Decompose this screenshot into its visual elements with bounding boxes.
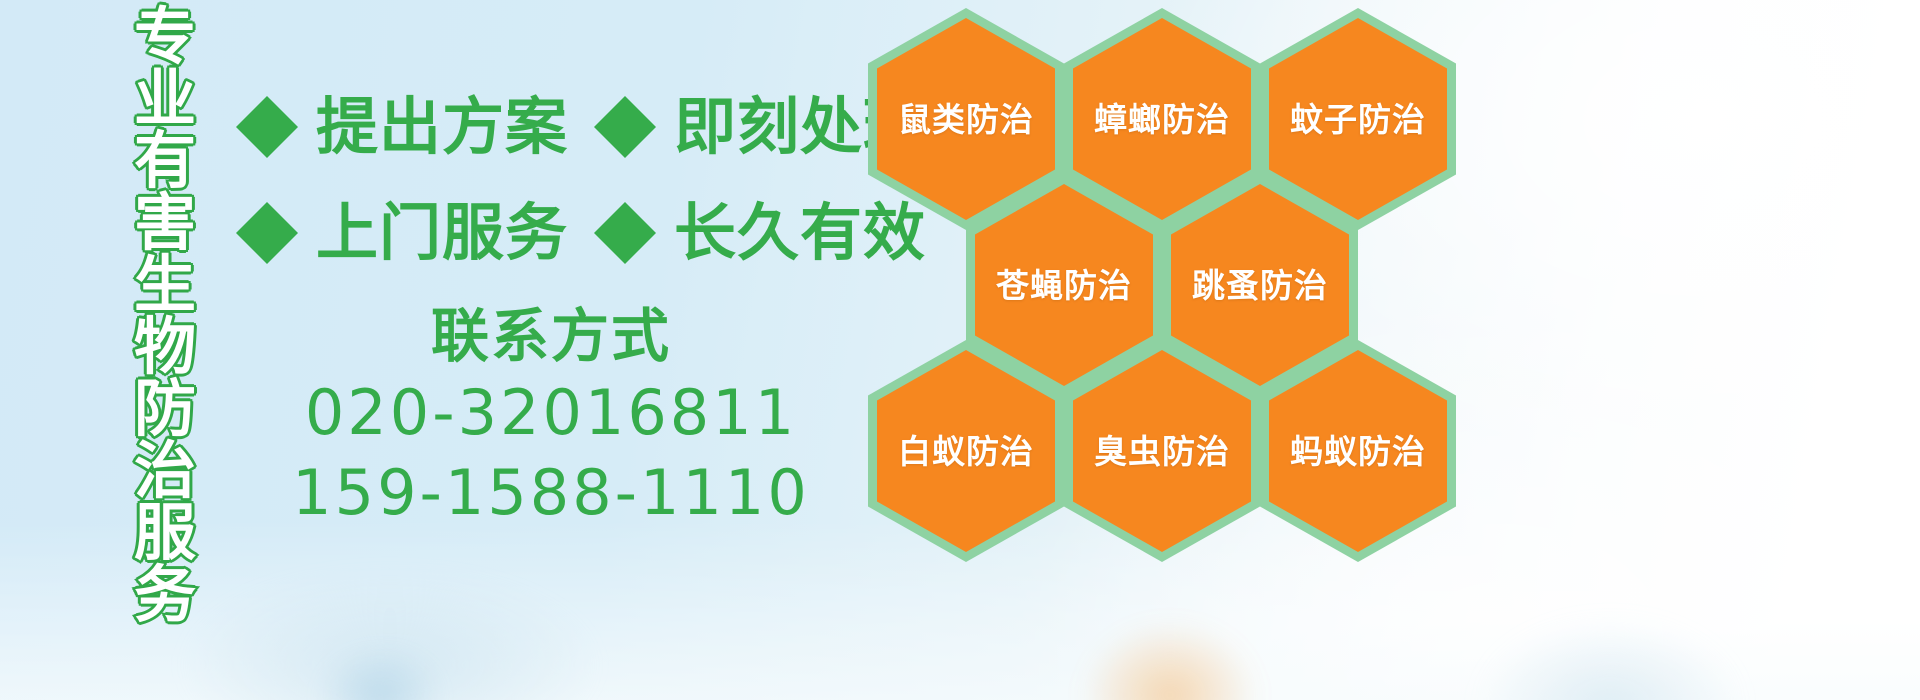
vertical-headline-char-8: 治 bbox=[134, 440, 196, 502]
service-hex-inner: 蚂蚁防治 bbox=[1269, 350, 1447, 552]
contact-block: 联系方式 020-32016811 159-1588-1110 bbox=[236, 300, 866, 534]
service-hex-label: 蚊子防治 bbox=[1290, 103, 1426, 136]
feature-list: 提出方案 即刻处理 上门服务 长久有效 bbox=[236, 74, 876, 286]
vertical-headline-char-7: 防 bbox=[134, 378, 196, 440]
service-hex-inner: 臭虫防治 bbox=[1073, 350, 1251, 552]
diamond-icon bbox=[594, 171, 656, 233]
service-hex-label: 臭虫防治 bbox=[1094, 435, 1230, 468]
service-hex-label: 苍蝇防治 bbox=[996, 269, 1132, 302]
vertical-headline-char-9: 服 bbox=[134, 502, 196, 564]
service-hex-inner: 蚊子防治 bbox=[1269, 18, 1447, 220]
contact-phone-landline[interactable]: 020-32016811 bbox=[236, 373, 866, 454]
diamond-icon bbox=[236, 171, 298, 233]
vertical-headline-char-3: 有 bbox=[134, 130, 196, 192]
feature-item-propose-plan: 提出方案 bbox=[236, 96, 568, 158]
service-hex-label: 蚂蚁防治 bbox=[1290, 435, 1426, 468]
vertical-headline-char-10: 务 bbox=[134, 564, 196, 626]
vertical-headline-char-1: 专 bbox=[134, 6, 196, 68]
background-blur-shape-left-small bbox=[320, 650, 440, 700]
service-hex-inner: 跳蚤防治 bbox=[1171, 184, 1349, 386]
diamond-icon bbox=[594, 65, 656, 127]
vertical-headline: 专 业 有 害 生 物 防 治 服 务 bbox=[112, 6, 218, 546]
vertical-headline-char-5: 生 bbox=[134, 254, 196, 316]
service-hex-label: 蟑螂防治 bbox=[1094, 103, 1230, 136]
vertical-headline-char-4: 害 bbox=[134, 192, 196, 254]
service-hex-inner: 鼠类防治 bbox=[877, 18, 1055, 220]
background-blur-shape-right bbox=[1480, 620, 1740, 700]
service-hex-inner: 白蚁防治 bbox=[877, 350, 1055, 552]
service-hex-label: 白蚁防治 bbox=[898, 435, 1034, 468]
service-hex-inner: 苍蝇防治 bbox=[975, 184, 1153, 386]
feature-row-2: 上门服务 长久有效 bbox=[236, 180, 876, 286]
contact-title: 联系方式 bbox=[236, 300, 866, 373]
vertical-headline-char-6: 物 bbox=[134, 316, 196, 378]
service-honeycomb: 鼠类防治 蟑螂防治 蚊子防治 苍蝇防治 跳蚤防治 白蚁防治 bbox=[860, 0, 1480, 700]
feature-label: 上门服务 bbox=[316, 202, 568, 264]
promo-banner: 专 业 有 害 生 物 防 治 服 务 提出方案 即刻处理 上门服务 bbox=[0, 0, 1920, 700]
feature-row-1: 提出方案 即刻处理 bbox=[236, 74, 876, 180]
feature-label: 提出方案 bbox=[316, 96, 568, 158]
service-hex-label: 跳蚤防治 bbox=[1192, 269, 1328, 302]
service-hex-label: 鼠类防治 bbox=[898, 103, 1034, 136]
feature-item-onsite-service: 上门服务 bbox=[236, 202, 568, 264]
service-hex-inner: 蟑螂防治 bbox=[1073, 18, 1251, 220]
vertical-headline-char-2: 业 bbox=[134, 68, 196, 130]
diamond-icon bbox=[236, 65, 298, 127]
contact-phone-mobile[interactable]: 159-1588-1110 bbox=[236, 453, 866, 534]
